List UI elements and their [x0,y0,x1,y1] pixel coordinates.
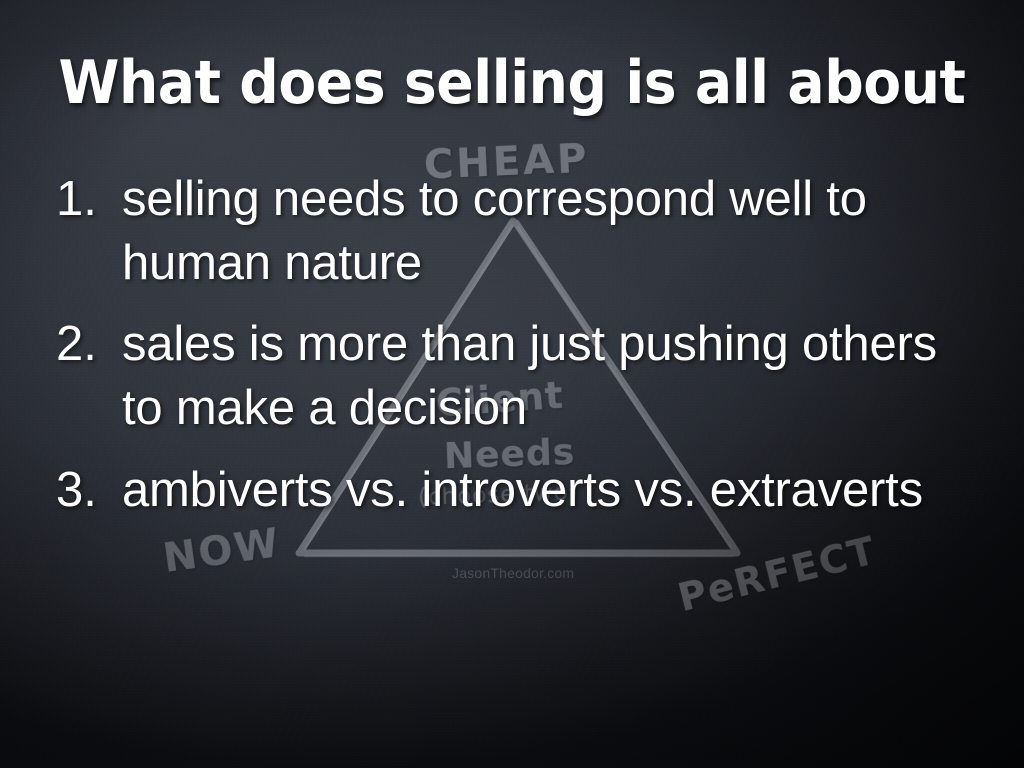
list-item-number: 3. [56,459,122,523]
bullet-list: 1. selling needs to correspond well to h… [56,168,972,540]
list-item-number: 1. [56,168,122,232]
slide-canvas: CHEAP Client Needs (choose two) NOW PeRF… [0,0,1024,768]
list-item-number: 2. [56,313,122,377]
list-item-text: selling needs to correspond well to huma… [122,168,972,295]
slide-title: What does selling is all about [41,52,983,115]
list-item: 1. selling needs to correspond well to h… [56,168,972,295]
list-item-text: sales is more than just pushing others t… [122,313,972,440]
list-item-text: ambiverts vs. introverts vs. extraverts [122,459,972,523]
list-item: 2. sales is more than just pushing other… [56,313,972,440]
list-item: 3. ambiverts vs. introverts vs. extraver… [56,459,972,523]
